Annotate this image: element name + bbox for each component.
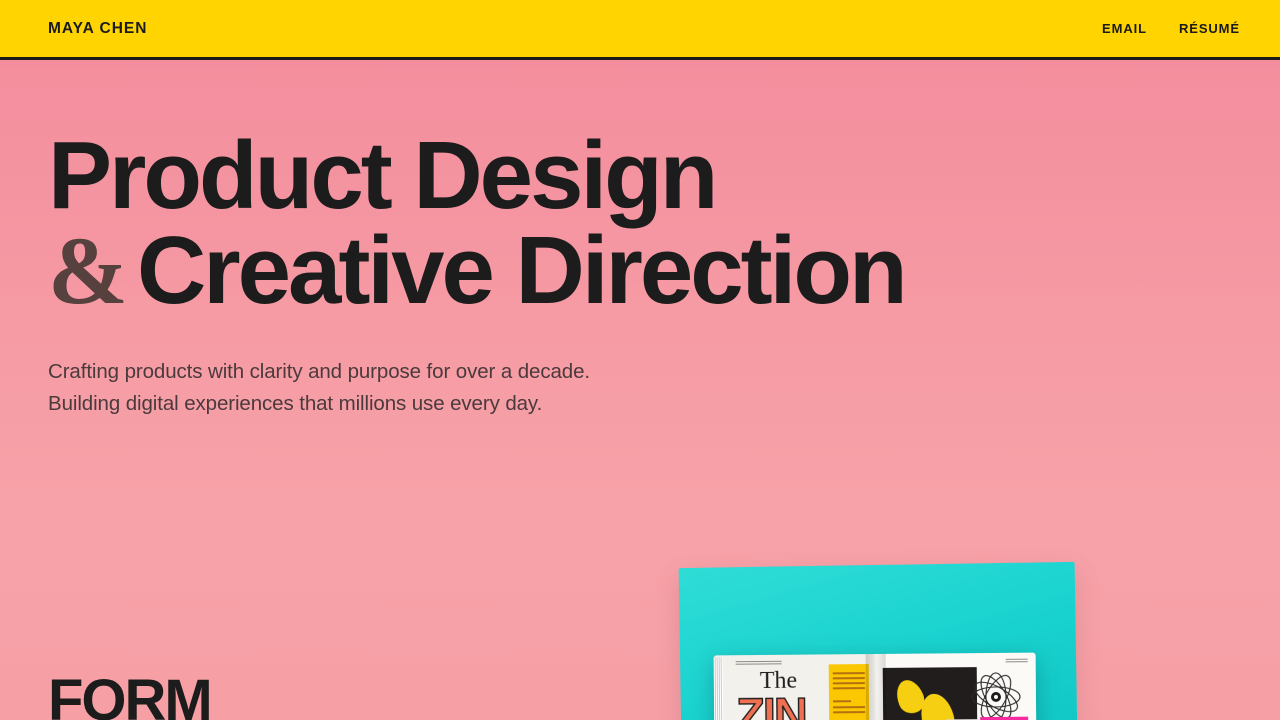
- magazine-photo: The ZIN: [672, 560, 1084, 720]
- headline-line-2-text: Creative Direction: [137, 217, 905, 324]
- hero-section: Product Design &Creative Direction Craft…: [48, 128, 1048, 421]
- magazine-right-page: [875, 653, 1037, 720]
- atom-diagram-icon: [970, 671, 1022, 720]
- right-page-black-panel: [883, 667, 978, 720]
- headline-line-1: Product Design: [48, 128, 1048, 223]
- left-page-yellow-sidebar: [829, 664, 870, 720]
- site-brand-logo[interactable]: MAYA CHEN: [48, 20, 147, 38]
- subtitle-line-1: Crafting products with clarity and purpo…: [48, 360, 590, 383]
- magazine-spine-shadow: [866, 654, 887, 720]
- page-title: Product Design &Creative Direction: [48, 128, 1048, 318]
- ampersand-glyph: &: [48, 217, 137, 324]
- magazine-left-page: The ZIN: [714, 654, 876, 720]
- nav-links: EMAIL RÉSUMÉ: [1102, 21, 1240, 36]
- headline-line-2: &Creative Direction: [48, 223, 1048, 318]
- section-heading-form: FORM: [48, 672, 211, 720]
- left-page-kicker-text: [736, 661, 782, 666]
- subtitle-line-2: Building digital experiences that millio…: [48, 392, 542, 415]
- hero-subtitle: Crafting products with clarity and purpo…: [48, 356, 1048, 421]
- nav-link-email[interactable]: EMAIL: [1102, 21, 1147, 36]
- right-page-folio-text: [1006, 659, 1028, 664]
- magazine-display-word: ZIN: [736, 691, 806, 720]
- open-magazine: The ZIN: [714, 653, 1037, 720]
- magazine-page-edges: [714, 657, 724, 720]
- top-navigation-bar: MAYA CHEN EMAIL RÉSUMÉ: [0, 0, 1280, 60]
- page-background: MAYA CHEN EMAIL RÉSUMÉ Product Design &C…: [0, 0, 1280, 720]
- magenta-sticky-note: [980, 717, 1028, 720]
- nav-link-resume[interactable]: RÉSUMÉ: [1179, 21, 1240, 36]
